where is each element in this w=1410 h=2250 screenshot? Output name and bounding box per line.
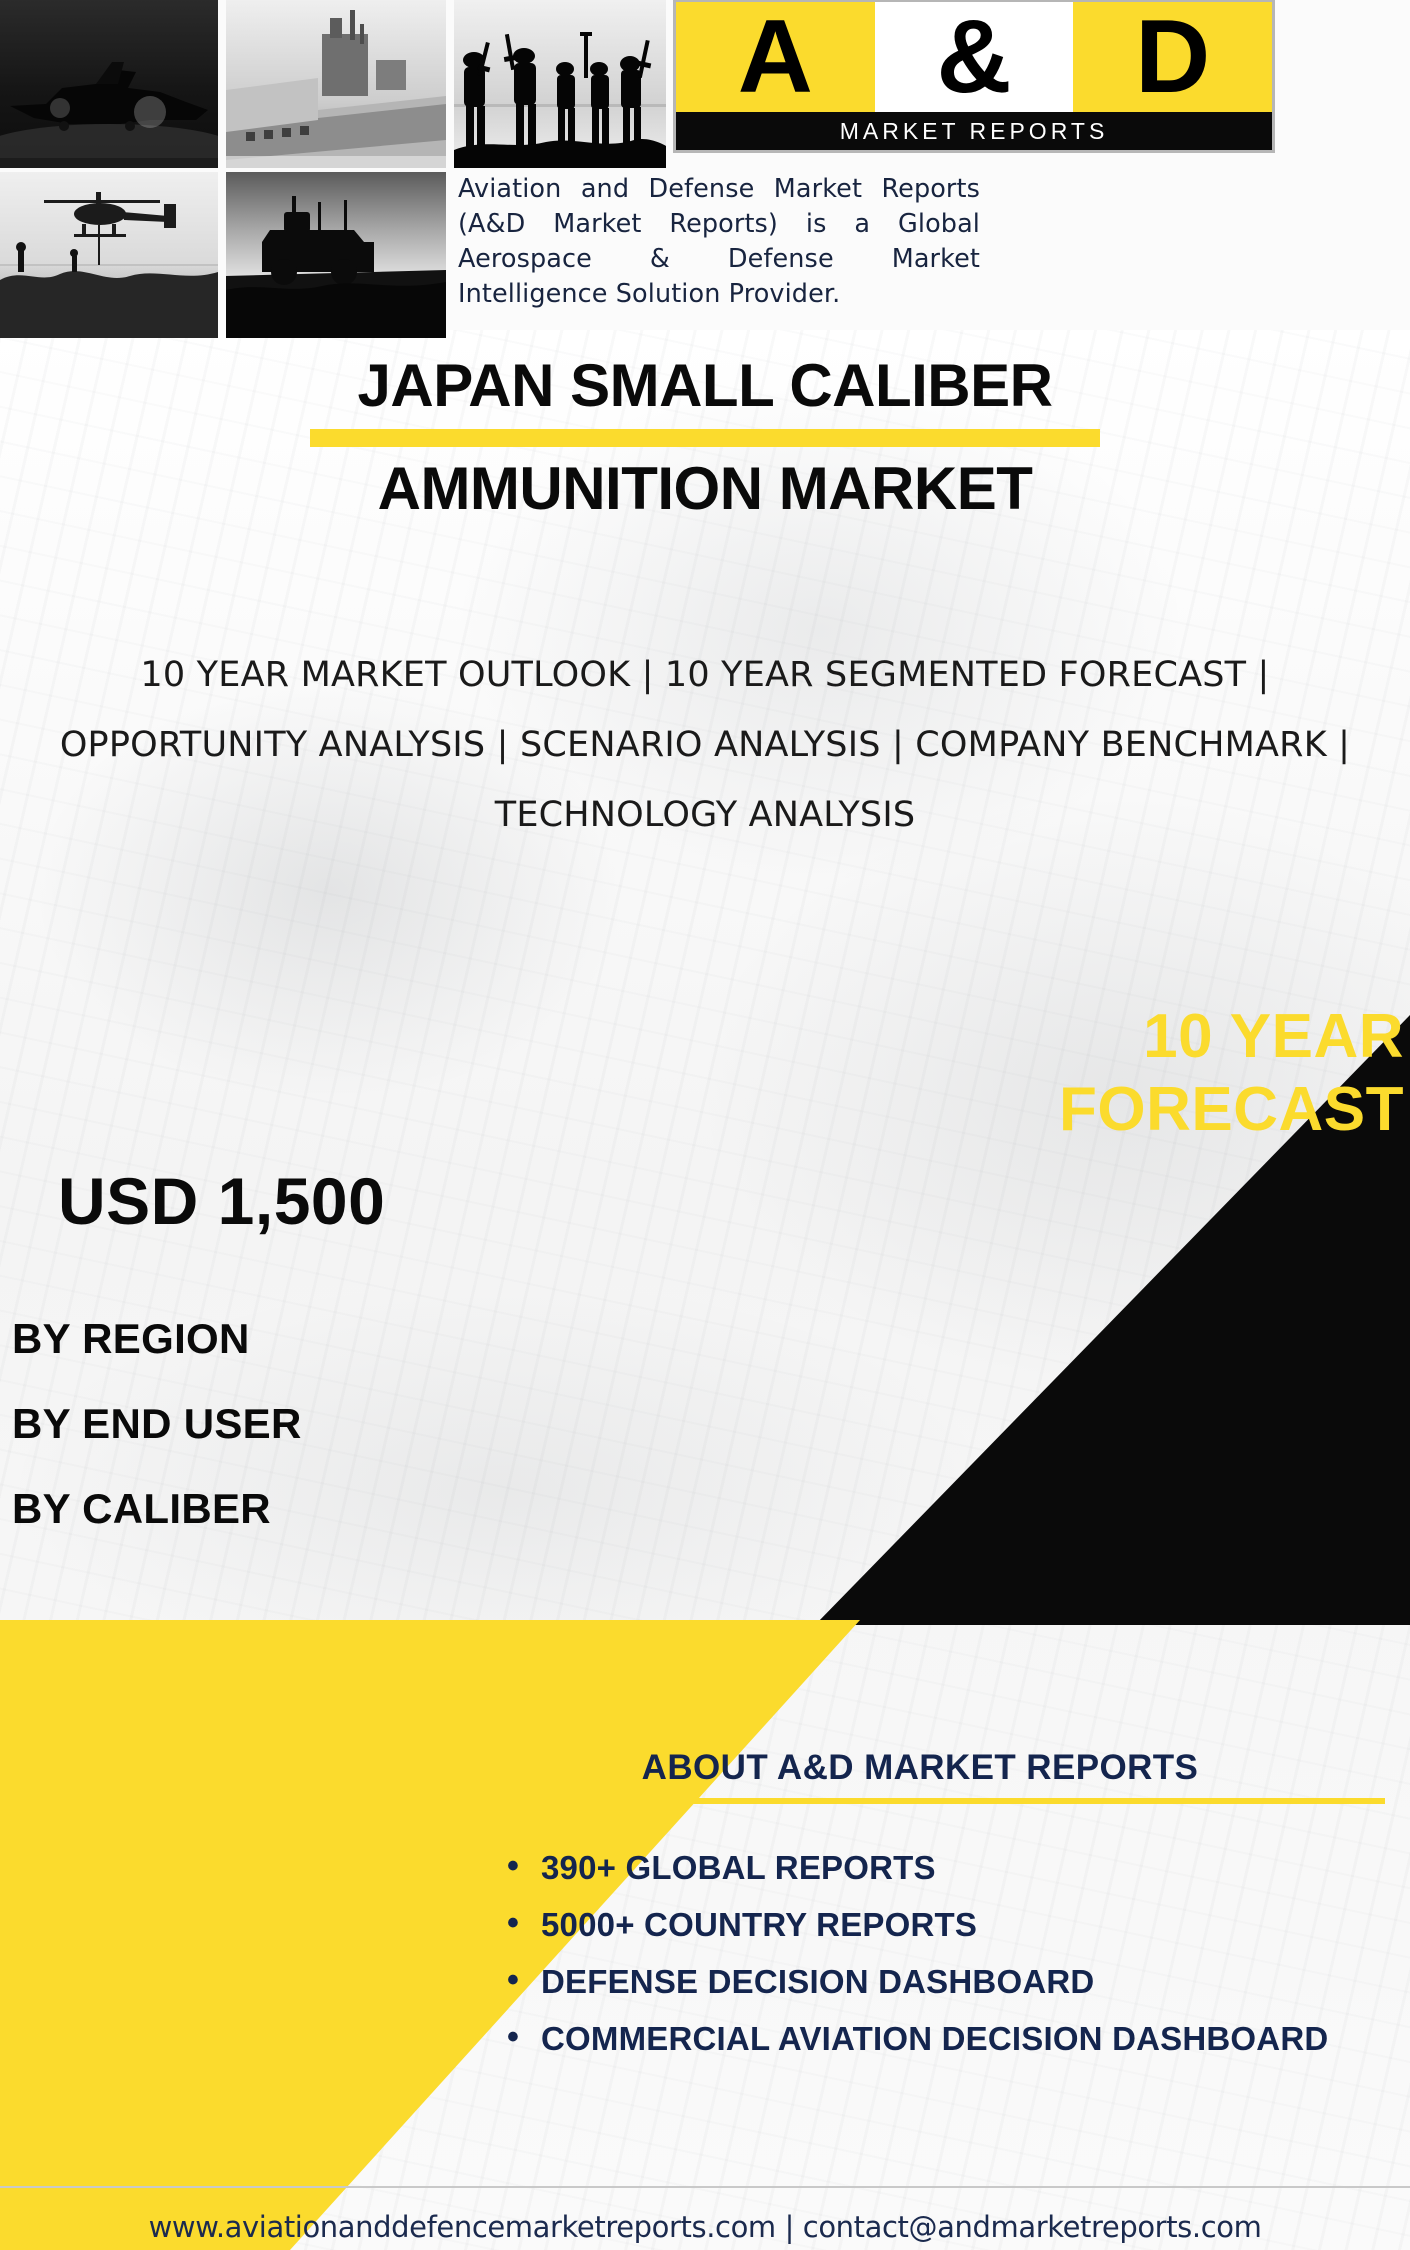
report-title-line-1: JAPAN SMALL CALIBER — [0, 352, 1410, 419]
logo-letter-a: A — [676, 2, 875, 112]
segmentation-list: BY REGION BY END USER BY CALIBER — [12, 1318, 302, 1573]
helicopter-photo — [0, 172, 218, 338]
segment-by-region: BY REGION — [12, 1318, 302, 1360]
logo-tagline-bar: MARKET REPORTS — [676, 112, 1272, 150]
aircraft-carrier-photo — [226, 0, 446, 168]
forecast-line-1: 10 YEAR — [934, 1000, 1404, 1073]
footer-email-link[interactable]: contact@andmarketreports.com — [803, 2210, 1262, 2244]
forecast-line-2: FORECAST — [934, 1073, 1404, 1146]
about-list-item: COMMERCIAL AVIATION DECISION DASHBOARD — [507, 2017, 1385, 2061]
company-intro-text: Aviation and Defense Market Reports (A&D… — [458, 172, 980, 312]
title-yellow-rule — [310, 429, 1100, 447]
fighter-jet-photo — [0, 0, 218, 168]
footer-divider — [0, 2186, 1410, 2188]
report-title: JAPAN SMALL CALIBER AMMUNITION MARKET — [0, 352, 1410, 522]
about-section: ABOUT A&D MARKET REPORTS 390+ GLOBAL REP… — [455, 1748, 1385, 2074]
report-description: 10 YEAR MARKET OUTLOOK | 10 YEAR SEGMENT… — [30, 640, 1380, 850]
logo-letter-d: D — [1073, 2, 1272, 112]
armored-vehicle-photo — [226, 172, 446, 338]
segment-by-caliber: BY CALIBER — [12, 1488, 302, 1530]
brand-logo: A & D MARKET REPORTS — [676, 2, 1272, 150]
price-value: USD 1,500 — [58, 1163, 385, 1239]
logo-letter-ampersand: & — [875, 2, 1074, 112]
about-yellow-rule — [455, 1798, 1385, 1804]
about-list: 390+ GLOBAL REPORTS 5000+ COUNTRY REPORT… — [507, 1846, 1385, 2061]
about-list-item: 5000+ COUNTRY REPORTS — [507, 1903, 1385, 1947]
logo-tagline: MARKET REPORTS — [840, 118, 1109, 145]
soldiers-silhouette-photo — [454, 0, 666, 168]
footer-separator: | — [785, 2210, 794, 2244]
header: A & D MARKET REPORTS Aviation and Defens… — [0, 0, 1410, 330]
about-list-item: 390+ GLOBAL REPORTS — [507, 1846, 1385, 1890]
segment-by-end-user: BY END USER — [12, 1403, 302, 1445]
about-list-item: DEFENSE DECISION DASHBOARD — [507, 1960, 1385, 2004]
footer-website-link[interactable]: www.aviationanddefencemarketreports.com — [149, 2210, 776, 2244]
report-title-line-2: AMMUNITION MARKET — [0, 455, 1410, 522]
about-title: ABOUT A&D MARKET REPORTS — [455, 1748, 1385, 1788]
logo-letters: A & D — [676, 2, 1272, 112]
footer: www.aviationanddefencemarketreports.com … — [0, 2210, 1410, 2244]
forecast-badge: 10 YEAR FORECAST — [934, 1000, 1404, 1146]
